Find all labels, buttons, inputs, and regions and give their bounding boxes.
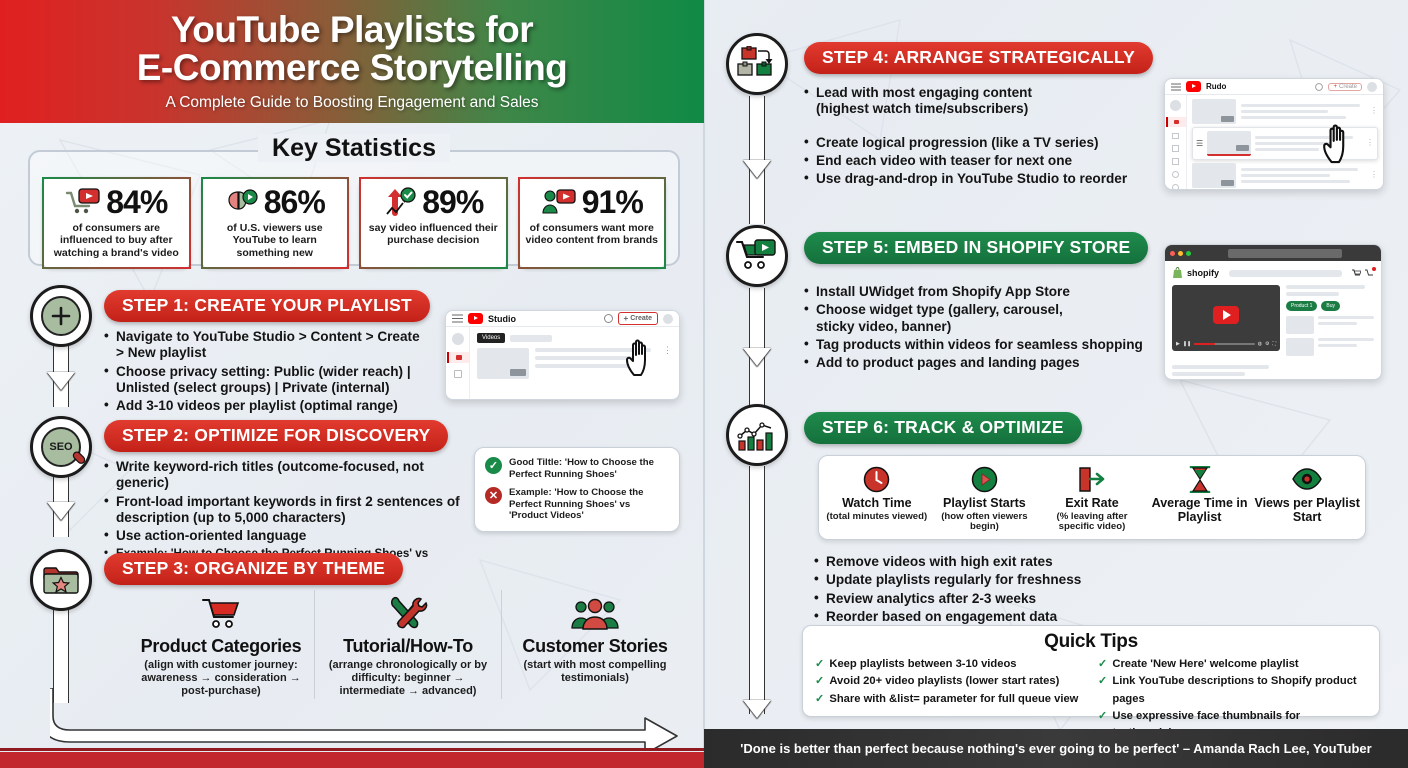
youtube-studio-reorder-mockup[interactable]: Rudo +Create <box>1164 78 1384 190</box>
stat-top: 86% <box>207 186 344 218</box>
bullet: End each video with teaser for next one <box>804 153 1154 169</box>
metric-watch-time: Watch Time (total minutes viewed) <box>823 464 931 522</box>
step-4-bullets-group-1: Lead with most engaging content (highest… <box>804 85 1154 118</box>
shopping-cart-icon <box>136 590 306 632</box>
studio-brand-label: Rudo <box>1206 82 1226 91</box>
step-node-1 <box>30 285 92 347</box>
flow-arrow-icon <box>743 700 771 718</box>
tip-item: ✓Link YouTube descriptions to Shopify pr… <box>1098 673 1367 708</box>
theme-customer-stories: Customer Stories (start with most compel… <box>501 590 688 699</box>
play-icon[interactable]: ▶ <box>1176 341 1180 347</box>
flow-stem <box>749 466 765 714</box>
page-title: YouTube Playlists for E-Commerce Storyte… <box>137 11 568 87</box>
hamburger-menu-icon[interactable] <box>452 314 463 323</box>
step-5-bullets: Install UWidget from Shopify App Store C… <box>804 284 1154 372</box>
metric-name: Exit Rate <box>1038 497 1146 511</box>
right-column: STEP 4: ARRANGE STRATEGICALLY Lead with … <box>704 0 1408 768</box>
window-maximize-icon[interactable] <box>1186 251 1191 256</box>
hourglass-icon <box>1146 464 1254 494</box>
metric-exit-rate: Exit Rate (% leaving after specific vide… <box>1038 464 1146 533</box>
bullet: Add to product pages and landing pages <box>804 355 1154 371</box>
metric-desc: (how often viewers begin) <box>931 512 1039 533</box>
person-video-icon <box>541 188 577 216</box>
step-node-2: SEO <box>30 416 92 478</box>
metric-playlist-starts: Playlist Starts (how often viewers begin… <box>931 464 1039 533</box>
people-group-icon <box>510 590 680 632</box>
sidebar-item-playlists[interactable] <box>454 370 462 378</box>
sidebar-item-feedback[interactable] <box>1172 184 1179 190</box>
footer-red-line <box>0 748 704 751</box>
step-3-block: STEP 3: ORGANIZE BY THEME <box>104 553 434 585</box>
fullscreen-icon[interactable]: ⛶ <box>1272 341 1276 347</box>
title-line-1: YouTube Playlists for <box>171 9 533 50</box>
more-options-icon[interactable]: ⋮ <box>1366 141 1374 146</box>
analytics-chart-icon <box>736 418 778 452</box>
tip-item: ✓Keep playlists between 3-10 videos <box>815 656 1084 673</box>
metric-views-per-start: Views per Playlist Start <box>1253 464 1361 526</box>
cart-video-icon <box>735 239 779 273</box>
left-column: YouTube Playlists for E-Commerce Storyte… <box>0 0 704 768</box>
key-statistics-row: 84% of consumers are influenced to buy a… <box>30 152 678 279</box>
hamburger-menu-icon[interactable] <box>1171 83 1181 91</box>
callout-good-text: Good Tiltle: 'How to Choose the Perfect … <box>509 457 669 480</box>
plus-icon: + <box>624 314 629 323</box>
step-4-bullets-group-2: Create logical progression (like a TV se… <box>804 135 1154 188</box>
bullet: Use action-oriented language <box>104 528 474 544</box>
bullet: Write keyword-rich titles (outcome-focus… <box>104 459 474 492</box>
product-tag[interactable]: Buy <box>1321 301 1340 311</box>
bullet: Add 3-10 videos per playlist (optimal ra… <box>104 398 424 414</box>
avatar[interactable] <box>1367 82 1377 92</box>
metric-name: Average Time in Playlist <box>1146 497 1254 525</box>
bullet: Install UWidget from Shopify App Store <box>804 284 1154 300</box>
theme-columns: Product Categories (align with customer … <box>128 590 688 699</box>
metric-desc: (% leaving after specific video) <box>1038 512 1146 533</box>
growth-arrow-check-icon <box>383 187 417 217</box>
stat-card: 91% of consumers want more video content… <box>518 177 667 269</box>
stat-card: 86% of U.S. viewers use YouTube to learn… <box>201 177 350 269</box>
bullet: Review analytics after 2-3 weeks <box>814 591 1154 607</box>
metric-name: Views per Playlist Start <box>1253 497 1361 525</box>
more-options-icon[interactable]: ⋮ <box>1370 173 1378 178</box>
sidebar-item-comments[interactable] <box>1172 145 1179 152</box>
footer-quote: 'Done is better than perfect because not… <box>704 729 1408 768</box>
browser-chrome <box>1165 245 1381 261</box>
bullet: Choose widget type (gallery, carousel, s… <box>804 302 1154 335</box>
shopify-page: shopify ▶ <box>1165 261 1381 380</box>
theme-title: Tutorial/How-To <box>323 636 493 657</box>
sidebar-item-settings[interactable] <box>1172 171 1179 178</box>
help-circle-icon[interactable] <box>604 314 613 323</box>
step-6-pill: STEP 6: TRACK & OPTIMIZE <box>804 412 1082 444</box>
tip-item: ✓Share with &list= parameter for full qu… <box>815 691 1084 708</box>
studio-sidebar <box>446 327 470 400</box>
key-statistics-panel: Key Statistics 84% <box>28 150 680 266</box>
step-1-bullets: Navigate to YouTube Studio > Content > C… <box>104 329 424 415</box>
studio-sidebar <box>1165 95 1187 190</box>
video-row[interactable]: ⋮ <box>1192 163 1378 188</box>
sidebar-item-analytics[interactable] <box>1172 133 1179 140</box>
metric-name: Playlist Starts <box>931 497 1039 511</box>
volume-icon[interactable]: ◍ <box>1258 341 1262 347</box>
avatar[interactable] <box>663 314 673 324</box>
step-node-5 <box>726 225 788 287</box>
youtube-studio-create-mockup[interactable]: Studio + Create <box>445 310 680 400</box>
theme-product-categories: Product Categories (align with customer … <box>128 590 314 699</box>
bullet: Choose privacy setting: Public (wider re… <box>104 364 424 397</box>
infographic-page: YouTube Playlists for E-Commerce Storyte… <box>0 0 1408 768</box>
step-node-4 <box>726 33 788 95</box>
exit-door-icon <box>1038 464 1146 494</box>
bullet: Update playlists regularly for freshness <box>814 572 1154 588</box>
stat-description: say video influenced their purchase deci… <box>365 222 502 247</box>
step-node-3 <box>30 549 92 611</box>
quick-tips-panel: Quick Tips ✓Keep playlists between 3-10 … <box>802 625 1380 717</box>
bullet: Front-load important keywords in first 2… <box>104 494 474 527</box>
player-controls[interactable]: ▶ ❚❚ ◍ ⚙ ⛶ <box>1176 341 1276 347</box>
check-icon: ✓ <box>485 457 502 474</box>
callout-bad-row: ✕ Example: 'How to Choose the Perfect Ru… <box>485 487 669 522</box>
product-tag[interactable]: Product 1 <box>1286 301 1317 311</box>
check-icon: ✓ <box>1098 673 1107 708</box>
theme-desc: (start with most compelling testimonials… <box>510 659 680 685</box>
more-options-icon[interactable]: ⋮ <box>1370 109 1378 114</box>
plus-icon: + <box>1333 84 1337 90</box>
shopify-store-mockup[interactable]: shopify ▶ <box>1164 244 1382 380</box>
cart-badge-icon[interactable] <box>1365 269 1374 278</box>
shopify-bag-icon <box>1172 267 1183 279</box>
create-button[interactable]: +Create <box>1328 83 1362 91</box>
callout-bad-text: Example: 'How to Choose the Perfect Runn… <box>509 487 669 522</box>
theme-title: Product Categories <box>136 636 306 657</box>
quick-tips-title: Quick Tips <box>815 631 1367 653</box>
theme-title: Customer Stories <box>510 636 680 657</box>
flow-arrow-icon <box>743 348 771 366</box>
shopping-cart-video-icon <box>65 188 101 216</box>
metric-desc: (total minutes viewed) <box>823 512 931 523</box>
stat-value: 89% <box>422 186 483 218</box>
hand-cursor-icon <box>1321 121 1357 165</box>
metric-name: Watch Time <box>823 497 931 511</box>
stat-description: of consumers are influenced to buy after… <box>48 222 185 259</box>
progress-bar[interactable] <box>1194 343 1254 345</box>
product-info: Product 1 Buy <box>1286 285 1374 360</box>
metrics-panel: Watch Time (total minutes viewed) Playli… <box>818 455 1366 540</box>
step-5-block: STEP 5: EMBED IN SHOPIFY STORE Install U… <box>804 232 1154 374</box>
settings-icon[interactable]: ⚙ <box>1265 341 1269 347</box>
flow-arrow-icon <box>47 502 75 520</box>
sidebar-item-subtitles[interactable] <box>1172 158 1179 165</box>
avatar <box>1170 100 1181 111</box>
shopify-brand-label: shopify <box>1187 268 1219 278</box>
step-4-block: STEP 4: ARRANGE STRATEGICALLY Lead with … <box>804 42 1154 190</box>
stat-value: 84% <box>106 186 167 218</box>
tip-item: ✓Avoid 20+ video playlists (lower start … <box>815 673 1084 690</box>
address-bar[interactable] <box>1228 249 1342 258</box>
title-line-2: E-Commerce Storytelling <box>137 49 568 87</box>
studio-topbar: Rudo +Create <box>1165 79 1383 95</box>
window-minimize-icon[interactable] <box>1178 251 1183 256</box>
studio-brand-label: Studio <box>488 314 516 324</box>
studio-topbar: Studio + Create <box>446 311 679 327</box>
theme-tutorial-howto: Tutorial/How-To (arrange chronologically… <box>314 590 501 699</box>
eye-icon <box>1253 464 1361 494</box>
check-icon: ✓ <box>815 673 824 690</box>
hand-cursor-icon <box>624 337 658 377</box>
bullet: Use drag-and-drop in YouTube Studio to r… <box>804 171 1154 187</box>
sidebar-item-content[interactable] <box>1166 117 1186 127</box>
footer-red-bar <box>0 752 704 768</box>
play-button[interactable] <box>1213 306 1239 324</box>
bullet: Navigate to YouTube Studio > Content > C… <box>104 329 424 362</box>
flow-arrow-icon <box>47 372 75 390</box>
step-5-pill: STEP 5: EMBED IN SHOPIFY STORE <box>804 232 1148 264</box>
check-icon: ✓ <box>815 691 824 708</box>
tip-item: ✓Create 'New Here' welcome playlist <box>1098 656 1367 673</box>
embedded-video-player[interactable]: ▶ ❚❚ ◍ ⚙ ⛶ <box>1172 285 1280 351</box>
bullet: Create logical progression (like a TV se… <box>804 135 1154 151</box>
step-6-block: STEP 6: TRACK & OPTIMIZE <box>804 412 1154 444</box>
brain-play-icon <box>225 188 259 216</box>
stat-description: of consumers want more video content fro… <box>524 222 661 247</box>
help-circle-icon[interactable] <box>1315 83 1323 91</box>
folder-star-icon <box>41 563 81 597</box>
stat-value: 86% <box>264 186 325 218</box>
bullet: Tag products within videos for seamless … <box>804 337 1154 353</box>
step-node-6 <box>726 404 788 466</box>
step-1-pill: STEP 1: CREATE YOUR PLAYLIST <box>104 290 430 322</box>
tools-icon <box>323 590 493 632</box>
metric-average-time: Average Time in Playlist <box>1146 464 1254 526</box>
flow-stem <box>53 608 69 703</box>
plus-icon <box>41 296 81 336</box>
check-icon: ✓ <box>815 656 824 673</box>
step-3-pill: STEP 3: ORGANIZE BY THEME <box>104 553 403 585</box>
key-statistics-title: Key Statistics <box>30 134 678 163</box>
clock-icon <box>823 464 931 494</box>
stat-description: of U.S. viewers use YouTube to learn som… <box>207 222 344 259</box>
page-subtitle: A Complete Guide to Boosting Engagement … <box>165 94 538 112</box>
play-circle-icon <box>931 464 1039 494</box>
header-banner: YouTube Playlists for E-Commerce Storyte… <box>0 0 704 123</box>
avatar <box>452 333 464 345</box>
bullet: Reorder based on engagement data <box>814 609 1154 625</box>
stat-card: 89% say video influenced their purchase … <box>359 177 508 269</box>
stat-top: 89% <box>365 186 502 218</box>
flow-bottom-arrow-icon <box>50 688 680 748</box>
more-options-icon[interactable]: ⋮ <box>663 348 672 379</box>
stat-top: 91% <box>524 186 661 218</box>
stat-top: 84% <box>48 186 185 218</box>
step-2-callout: ✓ Good Tiltle: 'How to Choose the Perfec… <box>474 447 680 532</box>
step-1-block: STEP 1: CREATE YOUR PLAYLIST Navigate to… <box>104 290 424 417</box>
stat-card: 84% of consumers are influenced to buy a… <box>42 177 191 269</box>
magnifier-handle-icon <box>65 447 91 473</box>
create-button[interactable]: + Create <box>618 312 658 325</box>
boxes-reorder-icon <box>736 46 778 82</box>
tab-videos[interactable]: Videos <box>477 333 505 343</box>
callout-good-row: ✓ Good Tiltle: 'How to Choose the Perfec… <box>485 457 669 480</box>
stat-value: 91% <box>582 186 643 218</box>
bullet: Lead with most engaging content (highest… <box>804 85 1154 118</box>
step-4-pill: STEP 4: ARRANGE STRATEGICALLY <box>804 42 1153 74</box>
sidebar-item-content[interactable] <box>447 352 469 363</box>
cart-icon[interactable] <box>1352 269 1361 278</box>
drag-handle-icon[interactable]: ☰ <box>1196 141 1203 147</box>
check-icon: ✓ <box>1098 656 1107 673</box>
cross-icon: ✕ <box>485 487 502 504</box>
youtube-logo-icon <box>1186 81 1201 92</box>
step-2-pill: STEP 2: OPTIMIZE FOR DISCOVERY <box>104 420 448 452</box>
create-button-label: Create <box>630 315 652 322</box>
youtube-logo-icon <box>468 313 483 324</box>
window-close-icon[interactable] <box>1170 251 1175 256</box>
flow-arrow-icon <box>743 160 771 178</box>
step-6-bullets: Remove videos with high exit rates Updat… <box>814 554 1154 627</box>
bullet: Remove videos with high exit rates <box>814 554 1154 570</box>
pause-icon[interactable]: ❚❚ <box>1183 341 1191 347</box>
